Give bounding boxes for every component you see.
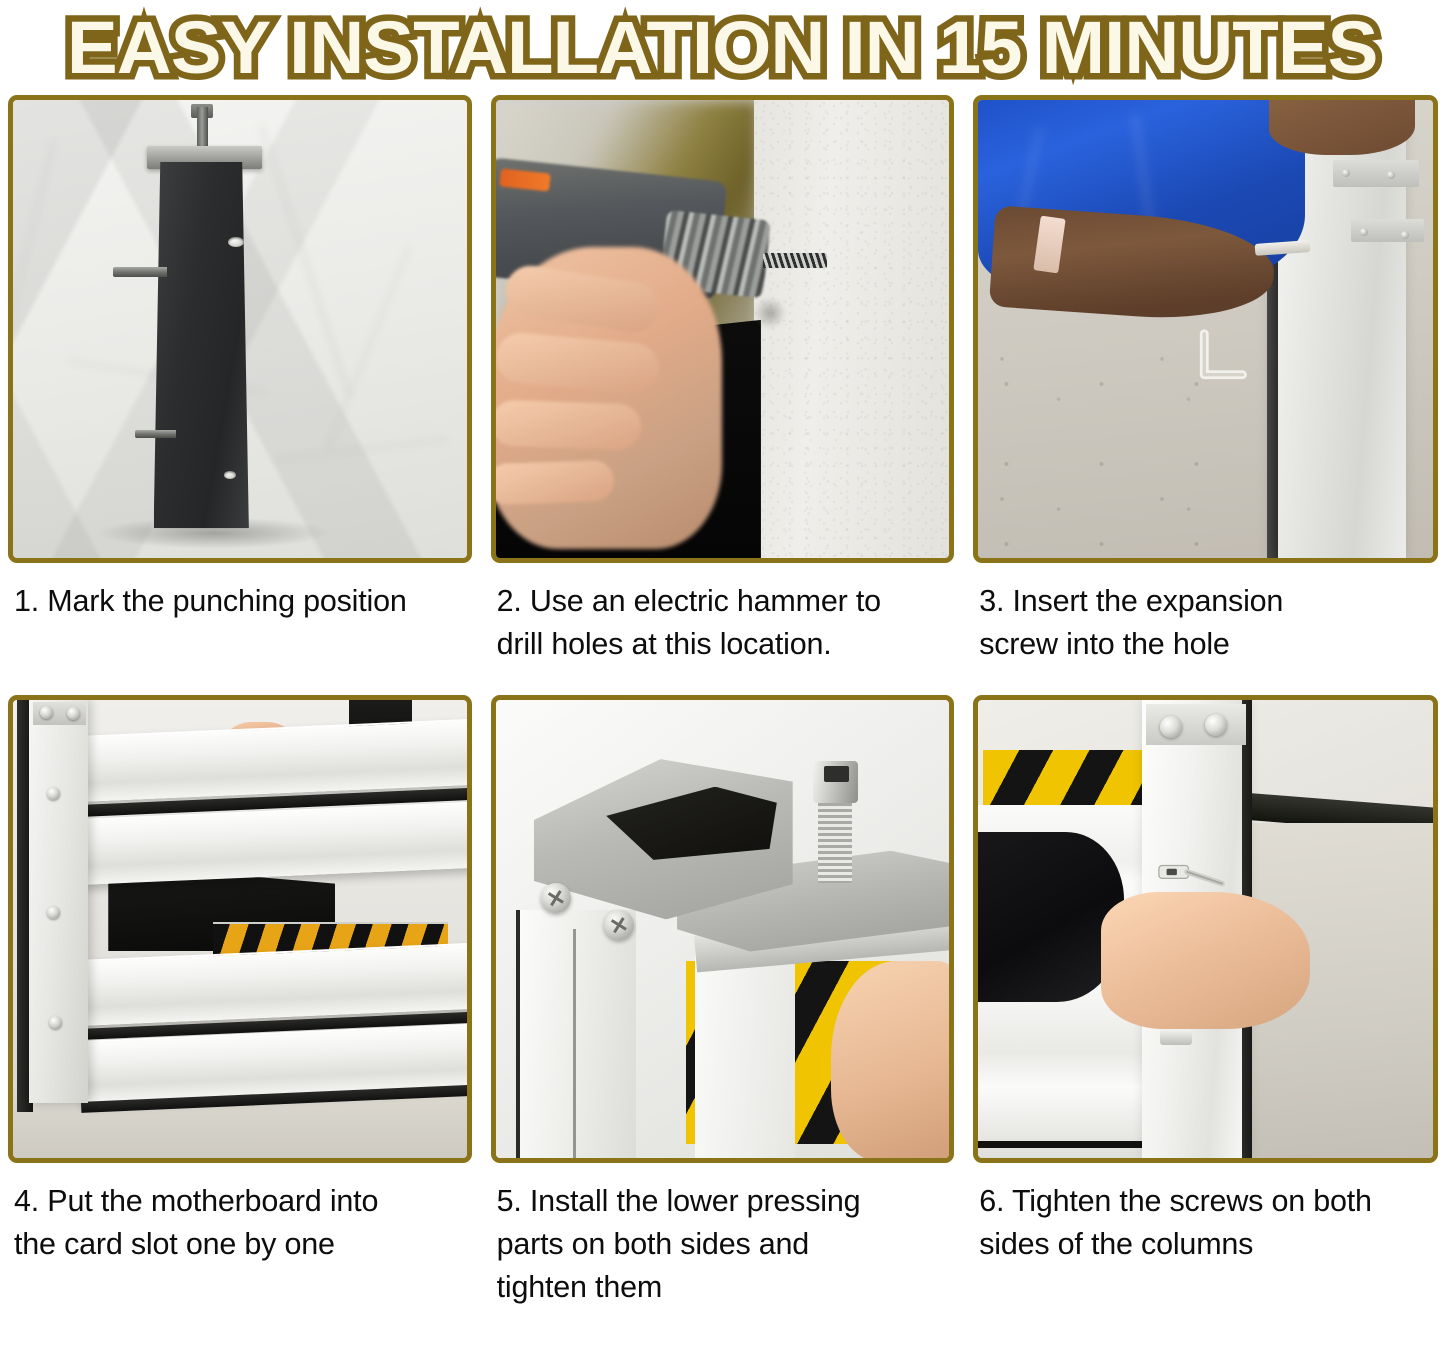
column-screw <box>1401 231 1409 239</box>
step-card-6: 6. Tighten the screws on both sides of t… <box>963 695 1445 1310</box>
step-card-1: 1. Mark the punching position <box>0 95 482 667</box>
hand-tightening <box>1101 892 1310 1029</box>
drill-dust-puff <box>754 297 786 329</box>
post-screw <box>47 787 60 800</box>
hex-bolt-shaft <box>818 800 852 882</box>
step-5-caption-line-3: tighten them <box>497 1266 951 1309</box>
allen-key-icon <box>1192 324 1260 393</box>
step-4-caption-line-2: the card slot one by one <box>14 1223 468 1266</box>
step-6-caption-line-1: 6. Tighten the screws on both <box>979 1180 1434 1223</box>
page-title: EASY INSTALLATION IN 15 MINUTES <box>67 11 1378 85</box>
step-5-caption: 5. Install the lower pressing parts on b… <box>491 1163 955 1310</box>
step-2-caption-line-2: drill holes at this location. <box>497 623 951 666</box>
step-1-photo-frame <box>8 95 472 563</box>
step-2-photo-frame <box>491 95 955 563</box>
wrench-icon <box>1155 851 1232 897</box>
finger <box>496 460 615 506</box>
steps-grid: 1. Mark the punching position <box>0 95 1445 1309</box>
step-3-photo-frame <box>973 95 1438 563</box>
step-1-photo-mark-punching-position <box>13 100 467 558</box>
side-bolt <box>1160 1029 1192 1045</box>
side-bolt-upper <box>113 267 167 277</box>
white-board-front <box>695 947 795 1158</box>
step-1-caption-line-1: 1. Mark the punching position <box>14 580 468 623</box>
step-3-photo-insert-expansion-screw <box>978 100 1433 558</box>
step-6-photo-frame <box>973 695 1438 1163</box>
header-banner: EASY INSTALLATION IN 15 MINUTES <box>0 0 1445 95</box>
step-3-caption-line-1: 3. Insert the expansion <box>979 580 1434 623</box>
masonry-drill-bit <box>763 253 827 268</box>
post-groove <box>573 929 576 1158</box>
hazard-stripe-tape <box>983 750 1142 805</box>
post-screw <box>49 1016 62 1029</box>
step-1-caption: 1. Mark the punching position <box>8 563 472 623</box>
hex-bolt-socket <box>824 766 849 782</box>
step-6-caption-line-2: sides of the columns <box>979 1223 1434 1266</box>
step-2-caption: 2. Use an electric hammer to drill holes… <box>491 563 955 667</box>
step-6-photo-tighten-screws <box>978 700 1433 1158</box>
step-4-caption: 4. Put the motherboard into the card slo… <box>8 1163 472 1267</box>
row-spacer <box>0 667 1445 695</box>
step-card-3: 3. Insert the expansion screw into the h… <box>963 95 1445 667</box>
finger <box>496 400 642 451</box>
column-post <box>518 910 636 1157</box>
step-5-caption-line-2: parts on both sides and <box>497 1223 951 1266</box>
step-6-caption: 6. Tighten the screws on both sides of t… <box>973 1163 1438 1267</box>
step-5-caption-line-1: 5. Install the lower pressing <box>497 1180 951 1223</box>
steps-row-top: 1. Mark the punching position <box>0 95 1445 667</box>
post-screw <box>47 906 60 919</box>
step-2-photo-drill-holes <box>496 100 950 558</box>
step-4-photo-insert-boards <box>13 700 467 1158</box>
top-bolt-shaft <box>197 107 208 151</box>
step-5-photo-lower-pressing-parts <box>496 700 950 1158</box>
side-bolt-lower <box>135 430 176 438</box>
hand-supporting-part <box>831 961 949 1158</box>
column-post <box>29 700 88 1103</box>
step-3-caption-line-2: screw into the hole <box>979 623 1434 666</box>
step-2-caption-line-1: 2. Use an electric hammer to <box>497 580 951 623</box>
steps-row-bottom: 4. Put the motherboard into the card slo… <box>0 695 1445 1310</box>
step-4-caption-line-1: 4. Put the motherboard into <box>14 1180 468 1223</box>
upper-hand <box>1269 100 1414 155</box>
textured-white-wall <box>754 100 949 558</box>
step-card-5: 5. Install the lower pressing parts on b… <box>482 695 964 1310</box>
step-5-photo-frame <box>491 695 955 1163</box>
step-card-4: 4. Put the motherboard into the card slo… <box>0 695 482 1310</box>
step-4-photo-frame <box>8 695 472 1163</box>
phillips-screw-1 <box>541 883 571 913</box>
top-screw-1 <box>1160 716 1182 738</box>
step-card-2: 2. Use an electric hammer to drill holes… <box>482 95 964 667</box>
column-screw <box>1342 169 1350 177</box>
board-base-shadow <box>978 1141 1151 1148</box>
post-edge-line <box>516 910 520 1157</box>
step-3-caption: 3. Insert the expansion screw into the h… <box>973 563 1438 667</box>
marking-hole-lower <box>224 471 236 479</box>
